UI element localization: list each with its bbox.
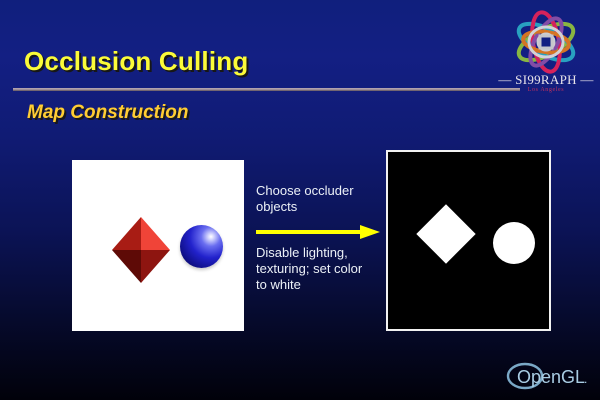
sphere-shape: [180, 225, 223, 268]
siggraph-logo: — SI99RAPH — Los Angeles: [496, 10, 596, 102]
svg-text:OpenGL: OpenGL: [517, 367, 585, 387]
siggraph-location: Los Angeles: [496, 87, 596, 93]
caption-block: Choose occluder objects: [256, 183, 380, 215]
occlusion-map-panel: [386, 150, 551, 331]
svg-text:.: .: [584, 372, 587, 386]
caption-block-2: Disable lighting, texturing; set color t…: [256, 245, 382, 293]
caption-line-3: Disable lighting,: [256, 245, 382, 261]
opengl-logo: OpenGL .: [505, 361, 593, 391]
caption-line-1: Choose occluder: [256, 183, 380, 199]
page-title: Occlusion Culling: [24, 46, 248, 77]
title-divider: [13, 88, 520, 91]
caption-line-5: to white: [256, 277, 382, 293]
map-diamond-shape: [416, 204, 475, 263]
opengl-wordmark-icon: OpenGL .: [505, 361, 593, 391]
siggraph-rings-icon: [496, 10, 596, 80]
caption-line-2: objects: [256, 199, 380, 215]
slide-canvas: Occlusion Culling Map Construction — SI9…: [0, 0, 600, 400]
siggraph-wordmark: — SI99RAPH —: [496, 72, 596, 88]
caption-line-4: texturing; set color: [256, 261, 382, 277]
right-arrow-icon: [256, 224, 380, 240]
lit-scene-panel: [72, 160, 244, 331]
map-circle-shape: [493, 222, 535, 264]
page-subtitle: Map Construction: [27, 102, 189, 124]
octahedron-shape: [112, 217, 170, 283]
